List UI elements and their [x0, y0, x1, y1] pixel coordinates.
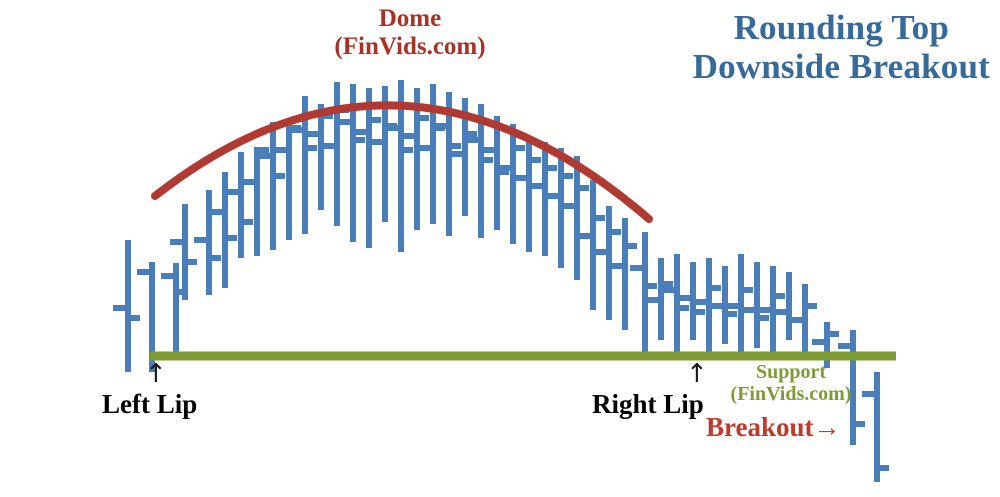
dome-label: Dome (FinVids.com) — [290, 5, 530, 61]
ohlc-bar-open-tick — [402, 133, 417, 139]
ohlc-bar-close-tick — [574, 185, 589, 191]
ohlc-bar-close-tick — [462, 131, 477, 137]
ohlc-bar-close-tick — [366, 117, 381, 123]
ohlc-bar-close-tick — [182, 259, 197, 265]
ohlc-bar-close-tick — [302, 145, 317, 151]
ohlc-bar-close-tick — [722, 311, 737, 317]
ohlc-bar-range — [366, 88, 372, 248]
ohlc-bar — [242, 147, 269, 256]
ohlc-bar-open-tick — [434, 123, 449, 129]
ohlc-bar — [113, 240, 140, 372]
ohlc-bar-close-tick — [738, 287, 753, 293]
support-label-line-2: (FinVids.com) — [716, 383, 866, 405]
ohlc-bar-open-tick — [258, 153, 273, 159]
ohlc-bar-close-tick — [526, 157, 541, 163]
ohlc-bar-open-tick — [610, 263, 625, 269]
ohlc-bar-range — [622, 218, 628, 330]
ohlc-bar-range — [254, 147, 260, 256]
ohlc-bar-close-tick — [222, 235, 237, 241]
ohlc-bar-close-tick — [590, 215, 605, 221]
ohlc-bar — [322, 82, 349, 226]
ohlc-bar-open-tick — [678, 295, 693, 301]
ohlc-bar-open-tick — [498, 165, 513, 171]
ohlc-bar — [790, 284, 817, 356]
ohlc-bar-range — [526, 138, 532, 252]
ohlc-bar — [862, 372, 889, 482]
support-label: Support (FinVids.com) — [716, 361, 866, 406]
ohlc-bar-open-tick — [137, 269, 152, 275]
ohlc-bar-close-tick — [824, 331, 839, 337]
ohlc-bar — [662, 254, 689, 356]
ohlc-bar-range — [270, 122, 276, 250]
ohlc-bar-open-tick — [170, 239, 185, 245]
ohlc-bar-close-tick — [642, 283, 657, 289]
ohlc-bar-close-tick — [850, 421, 865, 427]
ohlc-bar-open-tick — [306, 131, 321, 137]
ohlc-bar-open-tick — [466, 137, 481, 143]
ohlc-bar-open-tick — [274, 147, 289, 153]
ohlc-bar-open-tick — [594, 249, 609, 255]
ohlc-bar-range — [786, 272, 792, 340]
ohlc-bar-close-tick — [558, 173, 573, 179]
ohlc-bar-open-tick — [514, 175, 529, 181]
ohlc-bar-close-tick — [414, 115, 429, 121]
ohlc-bar-close-tick — [874, 465, 889, 471]
ohlc-bar-range — [510, 124, 516, 244]
ohlc-bar-close-tick — [674, 305, 689, 311]
dome-label-line-2: (FinVids.com) — [290, 33, 530, 61]
support-label-line-1: Support — [716, 361, 866, 383]
left-lip-label: Left Lip — [102, 389, 197, 419]
ohlc-bar-open-tick — [354, 129, 369, 135]
ohlc-bar-open-tick — [726, 303, 741, 309]
ohlc-bar-close-tick — [446, 143, 461, 149]
ohlc-bar-close-tick — [254, 147, 269, 153]
ohlc-bar-close-tick — [606, 229, 621, 235]
ohlc-bar-open-tick — [386, 125, 401, 131]
ohlc-bar — [498, 124, 525, 244]
ohlc-bar — [226, 152, 253, 258]
ohlc-bar-open-tick — [113, 305, 128, 311]
ohlc-bar-open-tick — [838, 343, 853, 349]
right-lip-arrow-icon: ↑ — [686, 361, 708, 387]
ohlc-bar-open-tick — [338, 119, 353, 125]
ohlc-bar-range — [318, 104, 324, 210]
ohlc-bar-open-tick — [530, 183, 545, 189]
ohlc-bar-close-tick — [398, 147, 413, 153]
ohlc-bar-range — [334, 82, 340, 226]
ohlc-bar-open-tick — [370, 139, 385, 145]
dome-label-line-1: Dome — [290, 5, 530, 33]
ohlc-bar-close-tick — [706, 285, 721, 291]
ohlc-bar — [482, 116, 509, 230]
breakout-label: Breakout→ — [706, 412, 841, 442]
ohlc-bar-open-tick — [790, 317, 805, 323]
ohlc-bar — [306, 104, 333, 210]
ohlc-bar-open-tick — [710, 303, 725, 309]
ohlc-bar-close-tick — [754, 315, 769, 321]
ohlc-bar-open-tick — [774, 309, 789, 315]
ohlc-bar-range — [286, 118, 292, 240]
ohlc-bar-range — [754, 262, 760, 348]
left-lip-arrow-icon: ↑ — [145, 361, 167, 387]
ohlc-bar-open-tick — [482, 147, 497, 153]
ohlc-bar — [646, 258, 673, 340]
ohlc-bar — [514, 138, 541, 252]
ohlc-bar-range — [182, 204, 188, 300]
ohlc-bar-open-tick — [546, 193, 561, 199]
ohlc-bar — [194, 190, 221, 295]
ohlc-bar-close-tick — [206, 255, 221, 261]
ohlc-bar-close-tick — [658, 281, 673, 287]
ohlc-bar — [630, 232, 657, 356]
ohlc-bar-open-tick — [578, 233, 593, 239]
ohlc-bar-close-tick — [478, 157, 493, 163]
ohlc-bar — [774, 272, 801, 340]
chart-canvas: Rounding Top Downside Breakout Dome (Fin… — [0, 0, 1000, 497]
ohlc-bar — [726, 254, 753, 356]
title-line-1: Rounding Top — [693, 8, 990, 47]
ohlc-bar — [354, 88, 381, 248]
page-title: Rounding Top Downside Breakout — [693, 8, 990, 86]
ohlc-bar-open-tick — [758, 307, 773, 313]
right-lip-label: Right Lip — [592, 389, 704, 419]
ohlc-bar-open-tick — [742, 307, 757, 313]
ohlc-bar-close-tick — [542, 165, 557, 171]
ohlc-bar-open-tick — [694, 299, 709, 305]
ohlc-bar-close-tick — [270, 173, 285, 179]
ohlc-bar-close-tick — [770, 293, 785, 299]
ohlc-bar-open-tick — [242, 179, 257, 185]
ohlc-bar-open-tick — [210, 209, 225, 215]
ohlc-bar-open-tick — [812, 339, 827, 345]
ohlc-bar-open-tick — [322, 143, 337, 149]
ohlc-bar — [742, 262, 769, 348]
ohlc-bar-open-tick — [562, 203, 577, 209]
ohlc-bar-close-tick — [350, 137, 365, 143]
ohlc-bar-open-tick — [662, 287, 677, 293]
ohlc-bar-open-tick — [161, 273, 176, 279]
ohlc-bar-range — [590, 180, 596, 310]
ohlc-bar-range — [238, 152, 244, 258]
ohlc-bar-close-tick — [238, 219, 253, 225]
ohlc-bar-open-tick — [646, 297, 661, 303]
ohlc-bar-close-tick — [802, 303, 817, 309]
ohlc-bar — [258, 122, 285, 250]
ohlc-bar — [578, 180, 605, 310]
ohlc-bar-range — [642, 232, 648, 356]
ohlc-bar-close-tick — [622, 243, 637, 249]
ohlc-bar-open-tick — [290, 127, 305, 133]
ohlc-bar-close-tick — [125, 315, 140, 321]
ohlc-bar-open-tick — [418, 145, 433, 151]
ohlc-bar-range — [574, 156, 580, 280]
ohlc-bar-open-tick — [226, 189, 241, 195]
ohlc-bar-open-tick — [630, 265, 645, 271]
ohlc-bar-close-tick — [510, 145, 525, 151]
title-line-2: Downside Breakout — [693, 47, 990, 86]
ohlc-bar-close-tick — [690, 309, 705, 315]
ohlc-bar-open-tick — [450, 151, 465, 157]
ohlc-bar-open-tick — [194, 237, 209, 243]
